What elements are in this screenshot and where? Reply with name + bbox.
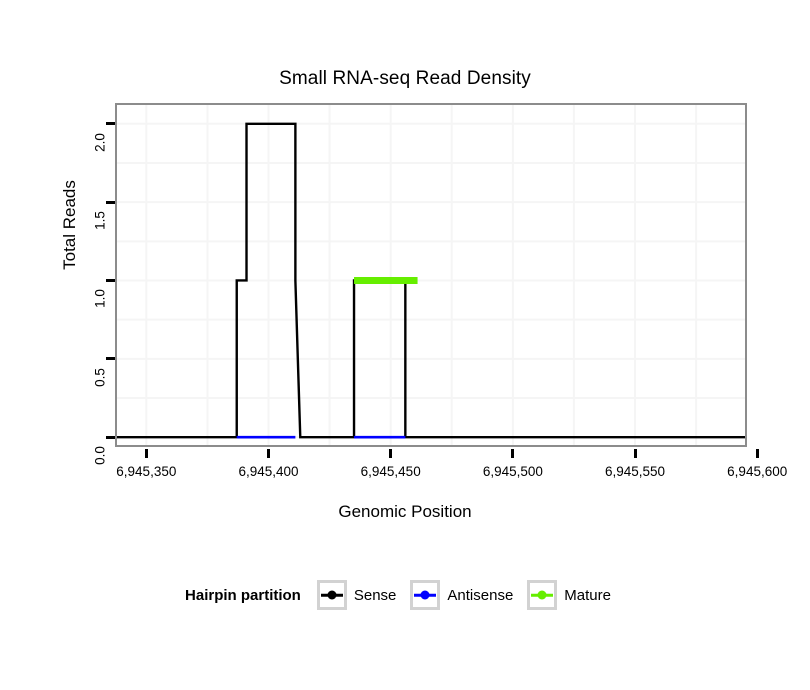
y-axis-tick-mark <box>106 357 115 360</box>
legend-key-icon <box>410 580 440 610</box>
x-axis-tick-label: 6,945,400 <box>238 464 298 479</box>
legend-key-dot <box>538 591 547 600</box>
legend-item-antisense[interactable]: Antisense <box>410 580 513 610</box>
legend: Hairpin partition SenseAntisenseMature <box>0 580 810 610</box>
x-axis-tick-mark <box>145 449 148 458</box>
x-axis-tick-mark <box>634 449 637 458</box>
x-axis-tick-label: 6,945,500 <box>483 464 543 479</box>
legend-label: Mature <box>564 587 611 604</box>
y-axis-tick-label: 1.0 <box>93 279 108 319</box>
y-axis-tick-mark <box>106 122 115 125</box>
y-axis-tick-mark <box>106 279 115 282</box>
x-axis-tick-mark <box>756 449 759 458</box>
legend-entries: SenseAntisenseMature <box>317 580 625 610</box>
chart-figure: Small RNA-seq Read Density Total Reads G… <box>0 0 810 690</box>
legend-title: Hairpin partition <box>185 587 301 604</box>
legend-key-dot <box>421 591 430 600</box>
y-axis-tick-label: 1.5 <box>93 201 108 241</box>
x-axis-tick-mark <box>267 449 270 458</box>
x-axis-label: Genomic Position <box>0 502 810 522</box>
x-axis-tick-label: 6,945,350 <box>116 464 176 479</box>
legend-key-dot <box>327 591 336 600</box>
chart-title: Small RNA-seq Read Density <box>0 68 810 90</box>
y-axis-tick-mark <box>106 436 115 439</box>
x-axis-tick-mark <box>511 449 514 458</box>
legend-key-icon <box>317 580 347 610</box>
legend-label: Sense <box>354 587 397 604</box>
x-axis-tick-label: 6,945,450 <box>361 464 421 479</box>
plot-panel <box>115 103 747 447</box>
y-axis-tick-label: 2.0 <box>93 122 108 162</box>
legend-label: Antisense <box>447 587 513 604</box>
legend-item-sense[interactable]: Sense <box>317 580 397 610</box>
y-axis-label: Total Reads <box>60 145 80 305</box>
x-axis-tick-mark <box>389 449 392 458</box>
x-axis-tick-label: 6,945,600 <box>727 464 787 479</box>
data-series-layer <box>117 105 745 445</box>
legend-key-icon <box>527 580 557 610</box>
legend-item-mature[interactable]: Mature <box>527 580 611 610</box>
y-axis-tick-label: 0.5 <box>93 357 108 397</box>
x-axis-tick-label: 6,945,550 <box>605 464 665 479</box>
y-axis-tick-mark <box>106 201 115 204</box>
y-axis-tick-label: 0.0 <box>93 436 108 476</box>
